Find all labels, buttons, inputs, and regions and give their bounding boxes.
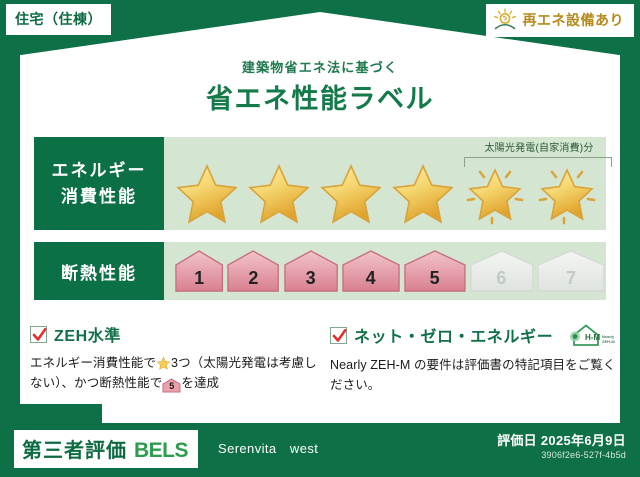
zeh-body-part1: エネルギー消費性能で — [30, 356, 156, 370]
evaluation-date: 評価日 2025年6月9日 — [497, 430, 626, 449]
zeh-standard-body: エネルギー消費性能で3つ（太陽光発電は考慮しない）、かつ断熱性能で5を達成 — [30, 353, 320, 394]
zeh-body-part3: を達成 — [181, 376, 219, 390]
inline-grade-value: 5 — [162, 378, 181, 395]
label-footer: 第三者評価 BELS Serenvita west 評価日 2025年6月9日 … — [0, 424, 640, 477]
solar-portion-caption: 太陽光発電(自家消費)分 — [448, 139, 630, 154]
zeh-standard-section: ZEH水準 エネルギー消費性能で3つ（太陽光発電は考慮しない）、かつ断熱性能で5… — [30, 322, 320, 394]
svg-text:ZEH-M: ZEH-M — [602, 339, 615, 344]
bels-en-label: BELS — [134, 439, 188, 463]
insulation-grade-value: 7 — [566, 268, 576, 289]
star-icon — [172, 160, 242, 226]
net-zero-energy-title: ネット・ゼロ・エネルギー — [354, 323, 553, 347]
evaluation-date-value: 2025年6月9日 — [541, 433, 626, 448]
zeh-standard-title: ZEH水準 — [54, 322, 121, 346]
energy-performance-row-label: エネルギー 消費性能 — [34, 137, 164, 230]
insulation-grade-value: 5 — [430, 268, 440, 289]
net-zero-energy-header: ネット・ゼロ・エネルギー H-M Nearly ZEH-M — [330, 322, 618, 348]
label-title: 省エネ性能ラベル — [0, 77, 640, 116]
insulation-grade-value: 2 — [248, 268, 258, 289]
insulation-grade-list: 1 2 3 4 5 — [164, 242, 606, 300]
insulation-performance-row: 断熱性能 1 2 3 4 — [34, 242, 606, 300]
insulation-grade-badge: 5 — [403, 249, 467, 293]
building-type-tag: 住宅（住棟） — [6, 4, 111, 35]
house-shape-notch — [20, 404, 102, 424]
insulation-grades-panel: 1 2 3 4 5 — [164, 242, 606, 300]
insulation-row-label: 断熱性能 — [34, 242, 164, 300]
energy-performance-row: エネルギー 消費性能 太陽光発電(自家消費)分 — [34, 137, 606, 230]
label-subtitle: 建築物省エネ法に基づく — [0, 57, 640, 76]
evaluation-id: 3906f2e6-527f-4b5d — [541, 450, 626, 460]
sun-icon — [492, 8, 518, 32]
insulation-grade-badge: 1 — [174, 249, 224, 293]
insulation-grade-value: 3 — [306, 268, 316, 289]
energy-performance-stars-panel: 太陽光発電(自家消費)分 — [164, 137, 606, 230]
star-icon — [388, 160, 458, 226]
insulation-grade-badge: 4 — [341, 249, 401, 293]
star-icon — [156, 356, 171, 371]
insulation-grade-value: 1 — [194, 268, 204, 289]
evaluation-date-label: 評価日 — [497, 433, 537, 448]
insulation-grade-value: 4 — [366, 268, 376, 289]
star-icon — [316, 160, 386, 226]
bels-certification-badge: 第三者評価 BELS — [14, 430, 198, 468]
solar-portion-bracket — [464, 157, 612, 167]
insulation-grade-badge: 6 — [469, 249, 535, 293]
star-solar-icon — [460, 160, 530, 226]
insulation-grade-badge: 2 — [226, 249, 280, 293]
checkbox-checked-icon — [30, 326, 47, 343]
energy-label-line1: エネルギー — [52, 158, 147, 184]
insulation-label-text: 断熱性能 — [61, 259, 137, 284]
svg-text:H-M: H-M — [585, 333, 600, 342]
inline-grade-badge: 5 — [162, 378, 181, 393]
insulation-grade-badge: 7 — [536, 249, 606, 293]
insulation-grade-badge: 3 — [283, 249, 339, 293]
building-name: Serenvita west — [218, 438, 318, 457]
net-zero-energy-section: ネット・ゼロ・エネルギー H-M Nearly ZEH-M Nearly ZEH… — [330, 322, 618, 396]
star-rating — [172, 159, 602, 226]
renewable-badge-label: 再エネ設備あり — [523, 10, 625, 30]
zeh-standard-header: ZEH水準 — [30, 322, 320, 346]
net-zero-energy-body: Nearly ZEH-M の要件は評価書の特記項目をご覧ください。 — [330, 355, 618, 396]
star-icon — [244, 160, 314, 226]
star-solar-icon — [532, 160, 602, 226]
insulation-grade-value: 6 — [496, 268, 506, 289]
energy-label-line2: 消費性能 — [61, 184, 137, 210]
zeh-m-house-icon: H-M Nearly ZEH-M — [564, 322, 616, 348]
checkbox-checked-icon — [330, 327, 347, 344]
bels-jp-label: 第三者評価 — [22, 434, 127, 463]
renewable-equipment-badge: 再エネ設備あり — [486, 4, 635, 37]
energy-performance-label: 住宅（住棟） 再エネ設備あり 建築物省エネ法に基づく 省エネ性能ラベル — [0, 0, 640, 477]
